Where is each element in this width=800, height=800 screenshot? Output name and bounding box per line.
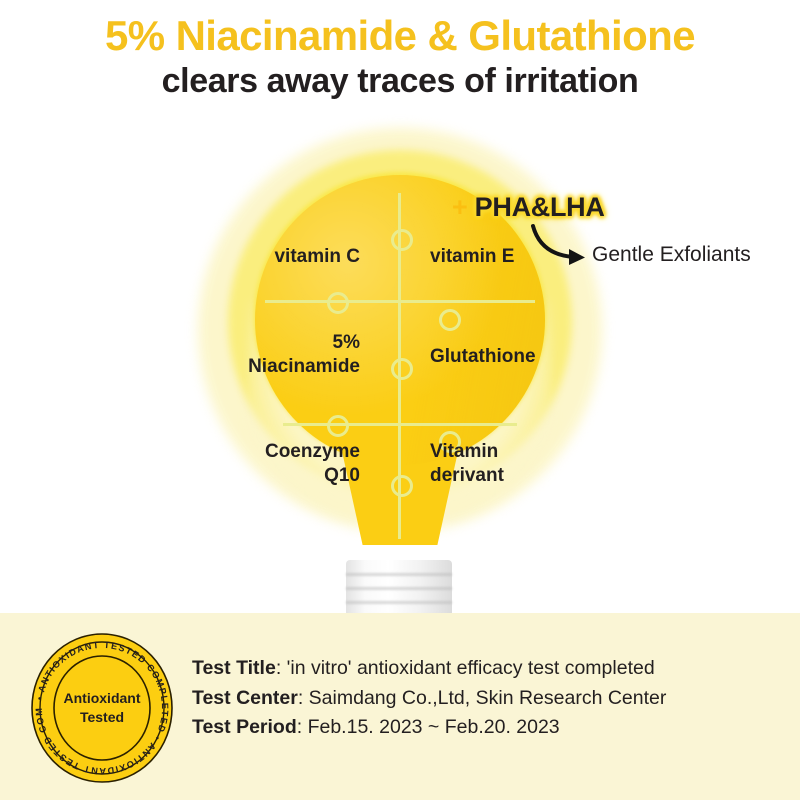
page-title: 5% Niacinamide & Glutathione: [0, 14, 800, 58]
puzzle-label-glutathione: Glutathione: [430, 345, 630, 369]
bulb-base-thread: [346, 573, 452, 576]
test-center-value: : Saimdang Co.,Ltd, Skin Research Center: [298, 687, 667, 709]
puzzle-knob-4: [391, 358, 413, 380]
infographic-root: 5% Niacinamide & Glutathione clears away…: [0, 0, 800, 800]
test-info-list: Test Title: 'in vitro' antioxidant effic…: [192, 654, 792, 743]
test-title-label: Test Title: [192, 657, 276, 679]
pha-lha-callout: + PHA&LHA: [452, 192, 605, 223]
pha-lha-label: PHA&LHA: [475, 192, 605, 222]
puzzle-label-vitamin-c: vitamin C: [175, 245, 360, 269]
puzzle-knob-3: [439, 309, 461, 331]
puzzle-knob-2: [327, 292, 349, 314]
curved-arrow-icon: [527, 222, 597, 272]
puzzle-seam-horizontal-1: [265, 300, 535, 303]
plus-sign: +: [452, 192, 467, 222]
heading-block: 5% Niacinamide & Glutathione clears away…: [0, 14, 800, 101]
page-subtitle: clears away traces of irritation: [0, 62, 800, 101]
test-period-value: : Feb.15. 2023 ~ Feb.20. 2023: [297, 716, 560, 738]
test-info-row: Test Period: Feb.15. 2023 ~ Feb.20. 2023: [192, 713, 792, 743]
bulb-base-thread: [346, 601, 452, 604]
puzzle-knob-7: [391, 475, 413, 497]
test-info-panel: • ANTIOXIDANT TESTED COMPLETED • ANTIOXI…: [0, 613, 800, 800]
test-title-value: : 'in vitro' antioxidant efficacy test c…: [276, 657, 655, 679]
test-period-label: Test Period: [192, 716, 297, 738]
lightbulb-illustration: vitamin C vitamin E 5% Niacinamide Gluta…: [0, 120, 800, 610]
puzzle-knob-1: [391, 229, 413, 251]
test-info-row: Test Center: Saimdang Co.,Ltd, Skin Rese…: [192, 684, 792, 714]
antioxidant-tested-seal: • ANTIOXIDANT TESTED COMPLETED • ANTIOXI…: [26, 632, 178, 784]
puzzle-seam-horizontal-2: [283, 423, 517, 426]
test-center-label: Test Center: [192, 687, 298, 709]
puzzle-label-niacinamide: 5% Niacinamide: [155, 331, 360, 379]
test-info-row: Test Title: 'in vitro' antioxidant effic…: [192, 654, 792, 684]
bulb-base-thread: [346, 587, 452, 590]
puzzle-knob-5: [327, 415, 349, 437]
puzzle-label-coenzyme-q10: Coenzyme Q10: [175, 440, 360, 488]
puzzle-label-vitamin-derivant: Vitamin derivant: [430, 440, 615, 488]
gentle-exfoliants-label: Gentle Exfoliants: [592, 243, 751, 267]
